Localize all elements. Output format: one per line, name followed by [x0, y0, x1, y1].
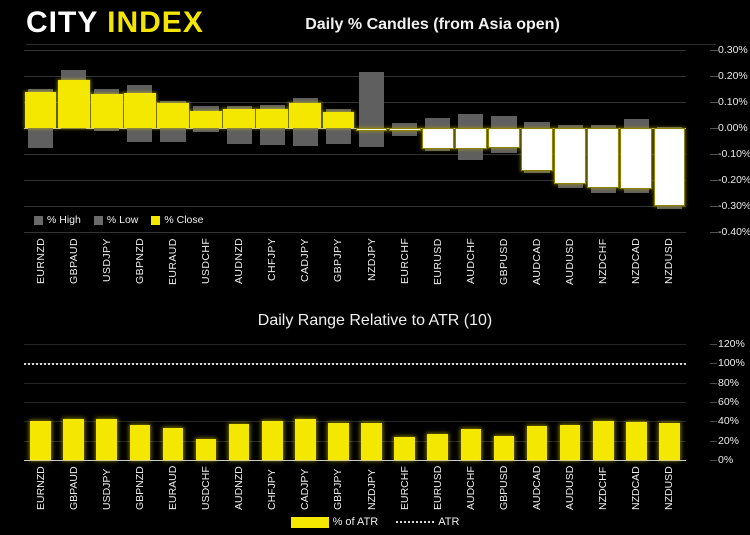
candle-body-negative: [389, 128, 421, 131]
chart2-x-label-gbpaud: GBPAUD: [68, 464, 80, 510]
chart2-x-label-eurnzd: EURNZD: [35, 464, 47, 510]
chart1-y-tick: [710, 154, 718, 155]
chart2-x-label-audcad: AUDCAD: [531, 464, 543, 510]
candle-body-negative: [554, 128, 586, 184]
atr-bar[interactable]: [427, 434, 448, 460]
chart1-y-tick: [710, 180, 718, 181]
chart1-title-text: Daily % Candles (from Asia open): [305, 16, 560, 34]
chart1-title: Daily % Candles (from Asia open): [0, 16, 750, 34]
chart2-gridline: [24, 344, 686, 345]
legend-dotted-line-icon: [396, 521, 434, 523]
chart1-x-label-gbpusd: GBPUSD: [498, 238, 510, 310]
chart1-y-tick: [710, 50, 718, 51]
chart1-x-label-chfjpy: CHFJPY: [266, 238, 278, 310]
atr-bar[interactable]: [30, 421, 51, 460]
candle-body-positive: [190, 111, 222, 128]
candle-column[interactable]: [521, 50, 554, 232]
chart2-legend: % of ATRATR: [0, 516, 750, 528]
chart2-x-label-euraud: EURAUD: [167, 464, 179, 510]
chart1-y-axis-label: -0.20%: [718, 174, 750, 186]
candle-column[interactable]: [156, 50, 189, 232]
legend-swatch-icon: [151, 216, 160, 225]
chart2-x-label-eurchf: EURCHF: [399, 464, 411, 510]
chart1-x-label-gbpjpy: GBPJPY: [332, 238, 344, 310]
legend-label: ATR: [438, 516, 459, 528]
chart1-y-axis-label: 0.20%: [718, 70, 748, 82]
candle-column[interactable]: [487, 50, 520, 232]
chart2-x-label-gbpjpy: GBPJPY: [332, 464, 344, 510]
legend-label: % Low: [107, 214, 139, 226]
candle-body-negative: [521, 128, 553, 171]
chart2-x-label-gbpnzd: GBPNZD: [134, 464, 146, 510]
candle-column[interactable]: [554, 50, 587, 232]
chart2-x-label-audusd: AUDUSD: [564, 464, 576, 510]
chart1-x-label-audchf: AUDCHF: [465, 238, 477, 310]
chart2-y-axis-label: 40%: [718, 415, 739, 427]
atr-bar[interactable]: [295, 419, 316, 460]
legend-label: % High: [47, 214, 81, 226]
legend-label: % Close: [164, 214, 203, 226]
legend-item: % of ATR: [291, 516, 379, 528]
chart1-y-axis-label: 0.30%: [718, 44, 748, 56]
atr-bar[interactable]: [262, 421, 283, 460]
atr-bar[interactable]: [196, 439, 217, 460]
atr-bar[interactable]: [361, 423, 382, 460]
daily-range-atr-chart: 120%100%80%60%40%20%0%: [24, 344, 686, 460]
chart1-x-label-nzdchf: NZDCHF: [597, 238, 609, 310]
chart2-x-label-nzdusd: NZDUSD: [663, 464, 675, 510]
chart2-x-label-gbpusd: GBPUSD: [498, 464, 510, 510]
candle-wick: [359, 72, 384, 147]
candle-body-negative: [620, 128, 652, 189]
chart2-y-tick: [710, 363, 717, 364]
candle-body-negative: [455, 128, 487, 149]
chart1-x-label-nzdcad: NZDCAD: [630, 238, 642, 310]
legend-swatch-icon: [34, 216, 43, 225]
chart1-x-label-gbpnzd: GBPNZD: [134, 238, 146, 310]
chart2-title: Daily Range Relative to ATR (10): [0, 312, 750, 330]
candle-body-negative: [422, 128, 454, 149]
chart2-y-tick: [710, 441, 717, 442]
candle-column[interactable]: [653, 50, 686, 232]
atr-bar[interactable]: [394, 437, 415, 460]
chart1-y-axis-label: -0.30%: [718, 200, 750, 212]
header-divider: [26, 44, 716, 45]
chart1-y-tick: [710, 102, 718, 103]
atr-bar[interactable]: [461, 429, 482, 460]
candle-body-positive: [58, 80, 90, 128]
chart1-y-axis-label: -0.10%: [718, 148, 750, 160]
chart2-x-label-audnzd: AUDNZD: [233, 464, 245, 510]
atr-bar[interactable]: [659, 423, 680, 460]
candle-column[interactable]: [587, 50, 620, 232]
chart1-x-label-audcad: AUDCAD: [531, 238, 543, 310]
chart2-y-tick: [710, 460, 717, 461]
legend-label: % of ATR: [333, 516, 379, 528]
chart2-x-axis-labels: EURNZDGBPAUDUSDJPYGBPNZDEURAUDUSDCHFAUDN…: [24, 464, 686, 510]
chart2-x-label-nzdcad: NZDCAD: [630, 464, 642, 510]
chart1-x-axis-labels: EURNZDGBPAUDUSDJPYGBPNZDEURAUDUSDCHFAUDN…: [24, 238, 686, 312]
candle-body-negative: [488, 128, 520, 148]
chart2-y-axis-label: 20%: [718, 435, 739, 447]
candle-body-positive: [157, 103, 189, 128]
candle-body-positive: [256, 109, 288, 129]
chart2-y-axis-label: 120%: [718, 338, 745, 350]
atr-reference-line: [24, 363, 686, 365]
legend-swatch-icon: [94, 216, 103, 225]
atr-bar[interactable]: [130, 425, 151, 460]
atr-bar[interactable]: [163, 428, 184, 460]
chart1-x-label-audnzd: AUDNZD: [233, 238, 245, 310]
candle-column[interactable]: [289, 50, 322, 232]
candle-column[interactable]: [421, 50, 454, 232]
chart2-x-label-chfjpy: CHFJPY: [266, 464, 278, 510]
candle-body-positive: [223, 109, 255, 129]
chart2-x-label-nzdchf: NZDCHF: [597, 464, 609, 510]
candle-column[interactable]: [90, 50, 123, 232]
chart1-x-label-usdchf: USDCHF: [200, 238, 212, 310]
atr-bar[interactable]: [626, 422, 647, 460]
legend-item: % Low: [94, 214, 139, 226]
chart2-y-axis-label: 0%: [718, 454, 733, 466]
chart2-y-axis-label: 80%: [718, 377, 739, 389]
candle-column[interactable]: [190, 50, 223, 232]
chart1-x-label-eurnzd: EURNZD: [35, 238, 47, 310]
chart2-y-tick: [710, 402, 717, 403]
candle-column[interactable]: [322, 50, 355, 232]
atr-bar[interactable]: [63, 419, 84, 460]
candle-body-positive: [25, 92, 57, 128]
chart1-y-tick: [710, 206, 718, 207]
candle-body-positive: [289, 103, 321, 128]
candle-column[interactable]: [256, 50, 289, 232]
dashboard-canvas: CITY INDEX Daily % Candles (from Asia op…: [0, 0, 750, 535]
chart1-x-label-audusd: AUDUSD: [564, 238, 576, 310]
chart2-gridline: [24, 402, 686, 403]
candle-body-positive: [323, 112, 355, 128]
chart2-gridline: [24, 441, 686, 442]
chart2-y-axis-label: 60%: [718, 396, 739, 408]
chart1-x-label-eurchf: EURCHF: [399, 238, 411, 310]
legend-item: % High: [34, 214, 81, 226]
chart1-y-axis-label: 0.10%: [718, 96, 748, 108]
candle-column[interactable]: [223, 50, 256, 232]
legend-item: ATR: [396, 516, 459, 528]
chart2-x-label-nzdjpy: NZDJPY: [366, 464, 378, 510]
atr-bar[interactable]: [328, 423, 349, 460]
chart1-x-label-eurusd: EURUSD: [432, 238, 444, 310]
chart2-x-label-audchf: AUDCHF: [465, 464, 477, 510]
chart2-x-label-usdjpy: USDJPY: [101, 464, 113, 510]
chart2-x-label-cadjpy: CADJPY: [299, 464, 311, 510]
candle-column[interactable]: [355, 50, 388, 232]
chart1-x-label-euraud: EURAUD: [167, 238, 179, 310]
chart1-y-tick: [710, 76, 718, 77]
chart2-y-tick: [710, 344, 717, 345]
chart1-gridline: [24, 232, 686, 233]
chart1-x-label-cadjpy: CADJPY: [299, 238, 311, 310]
candle-column[interactable]: [620, 50, 653, 232]
candle-body-positive: [91, 94, 123, 128]
daily-pct-candles-chart: 0.30%0.20%0.10%0.00%-0.10%-0.20%-0.30%-0…: [24, 50, 686, 232]
legend-bar-swatch-icon: [291, 517, 329, 528]
atr-bar[interactable]: [560, 425, 581, 460]
candle-column[interactable]: [388, 50, 421, 232]
chart2-x-label-eurusd: EURUSD: [432, 464, 444, 510]
chart1-y-tick: [710, 232, 718, 233]
chart2-baseline: [24, 460, 686, 461]
candle-body-negative: [587, 128, 619, 188]
atr-bar[interactable]: [96, 419, 117, 460]
candle-body-negative: [654, 128, 686, 206]
chart1-y-axis-label: 0.00%: [718, 122, 748, 134]
candle-body-negative: [356, 128, 388, 131]
chart1-x-label-nzdusd: NZDUSD: [663, 238, 675, 310]
chart1-x-label-gbpaud: GBPAUD: [68, 238, 80, 310]
legend-item: % Close: [151, 214, 203, 226]
chart2-y-tick: [710, 421, 717, 422]
candle-column[interactable]: [123, 50, 156, 232]
chart1-y-tick: [710, 128, 718, 129]
candle-body-positive: [124, 93, 156, 128]
chart1-legend: % High% Low% Close: [34, 214, 203, 226]
atr-bar[interactable]: [593, 421, 614, 460]
chart2-gridline: [24, 383, 686, 384]
atr-bar[interactable]: [229, 424, 250, 460]
chart1-x-label-usdjpy: USDJPY: [101, 238, 113, 310]
chart2-y-tick: [710, 383, 717, 384]
chart2-y-axis-label: 100%: [718, 357, 745, 369]
chart2-x-label-usdchf: USDCHF: [200, 464, 212, 510]
atr-bar[interactable]: [494, 436, 515, 460]
chart1-x-label-nzdjpy: NZDJPY: [366, 238, 378, 310]
chart1-y-axis-label: -0.40%: [718, 226, 750, 238]
candle-column[interactable]: [454, 50, 487, 232]
atr-bar[interactable]: [527, 426, 548, 460]
candle-column[interactable]: [57, 50, 90, 232]
candle-column[interactable]: [24, 50, 57, 232]
chart2-gridline: [24, 421, 686, 422]
